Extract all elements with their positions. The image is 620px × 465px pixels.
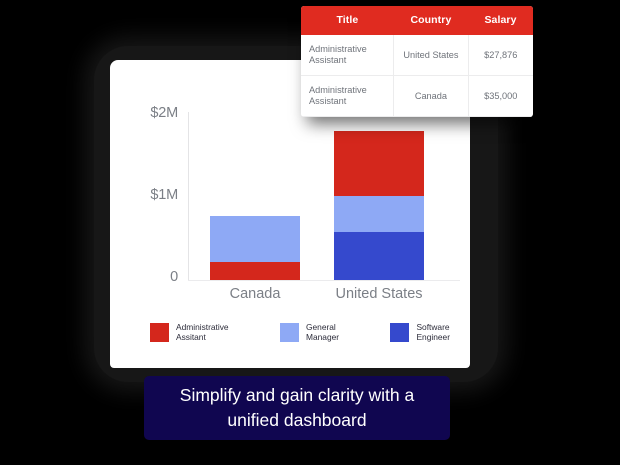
salary-data-table: Title Country Salary Administrative Assi… [301, 6, 533, 117]
legend-swatch-red-icon [150, 323, 169, 342]
y-tick-label-1m: $1M [118, 187, 178, 203]
screenshot-stage: $2M $1M 0 Canada United St [0, 0, 620, 465]
table-body: Administrative Assistant United States $… [301, 35, 533, 117]
bar-group-canada[interactable] [210, 216, 300, 280]
bar-segment-us-administrative-assistant[interactable] [334, 131, 424, 196]
bar-stack-united-states[interactable] [334, 131, 424, 280]
cell-country: United States [394, 35, 468, 76]
y-axis-line [188, 112, 189, 280]
table-header-row: Title Country Salary [301, 6, 533, 35]
cell-country: Canada [394, 76, 468, 117]
cell-salary: $27,876 [468, 35, 533, 76]
caption-text: Simplify and gain clarity with a unified… [170, 383, 424, 433]
bar-segment-canada-general-manager[interactable] [210, 216, 300, 262]
legend-item-general-manager[interactable]: General Manager [280, 322, 339, 342]
x-category-label-united-states: United States [324, 286, 434, 302]
x-axis-baseline [188, 280, 460, 281]
column-header-title[interactable]: Title [301, 6, 394, 35]
y-tick-label-0: 0 [118, 269, 178, 285]
bar-stack-canada[interactable] [210, 216, 300, 280]
bar-group-united-states[interactable] [334, 131, 424, 280]
column-header-salary[interactable]: Salary [468, 6, 533, 35]
column-header-country[interactable]: Country [394, 6, 468, 35]
legend-item-administrative-assistant[interactable]: Administrative Assitant [150, 322, 229, 342]
chart-legend: Administrative Assitant General Manager … [150, 322, 450, 342]
legend-item-software-engineer[interactable]: Software Engineer [390, 322, 450, 342]
legend-swatch-dark-blue-icon [390, 323, 409, 342]
cell-title: Administrative Assistant [301, 76, 394, 117]
bar-segment-us-software-engineer[interactable] [334, 232, 424, 280]
legend-label-administrative-assistant: Administrative Assitant [176, 322, 229, 342]
legend-swatch-light-blue-icon [280, 323, 299, 342]
bar-segment-us-general-manager[interactable] [334, 196, 424, 232]
x-category-label-canada: Canada [200, 286, 310, 302]
cell-title: Administrative Assistant [301, 35, 394, 76]
table-row[interactable]: Administrative Assistant Canada $35,000 [301, 76, 533, 117]
caption-banner: Simplify and gain clarity with a unified… [144, 376, 450, 440]
bar-segment-canada-administrative-assistant[interactable] [210, 262, 300, 280]
cell-salary: $35,000 [468, 76, 533, 117]
table-row[interactable]: Administrative Assistant United States $… [301, 35, 533, 76]
y-tick-label-2m: $2M [118, 105, 178, 121]
data-table-card: Title Country Salary Administrative Assi… [301, 6, 533, 117]
legend-label-general-manager: General Manager [306, 322, 339, 342]
legend-label-software-engineer: Software Engineer [416, 322, 450, 342]
